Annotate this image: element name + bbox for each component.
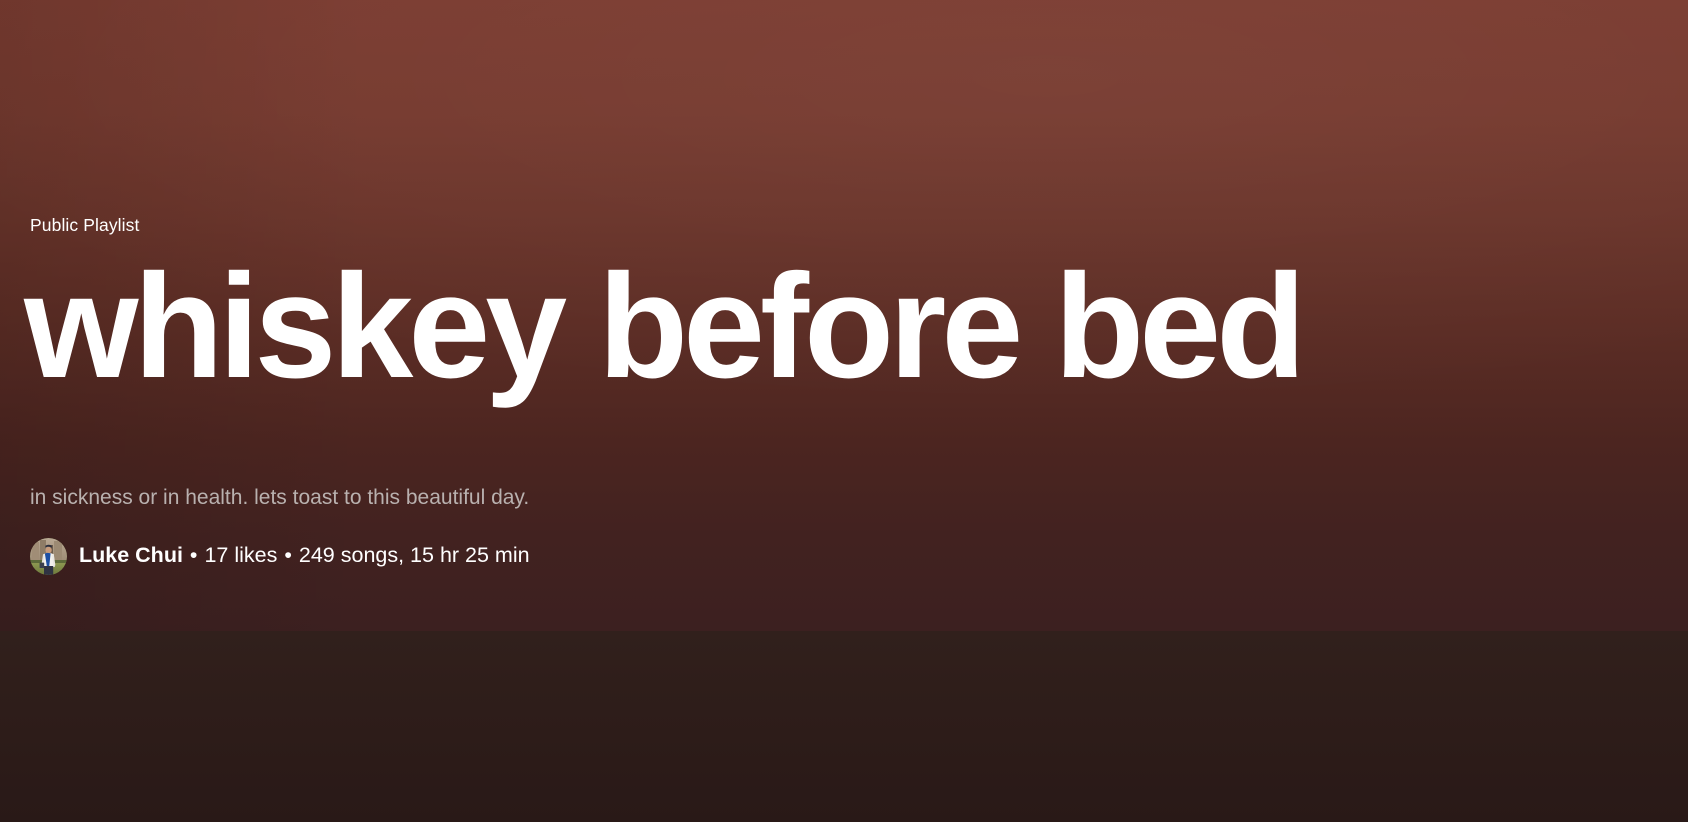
playlist-header-content: Public Playlist whiskey before bed in si… [30,0,1670,631]
playlist-song-count-duration: 249 songs, 15 hr 25 min [299,545,530,567]
meta-separator-bullet-2: • [277,545,299,567]
owner-avatar[interactable] [30,538,67,575]
meta-separator-bullet-1: • [183,545,205,567]
playlist-action-bar [0,631,1688,822]
playlist-meta-text: Luke Chui • 17 likes • 249 songs, 15 hr … [79,545,530,567]
playlist-owner-link[interactable]: Luke Chui [79,545,183,567]
playlist-header-hero: Public Playlist whiskey before bed in si… [0,0,1688,631]
playlist-title[interactable]: whiskey before bed [24,252,1686,403]
playlist-meta-row: Luke Chui • 17 likes • 249 songs, 15 hr … [30,539,530,573]
playlist-page: Public Playlist whiskey before bed in si… [0,0,1688,822]
playlist-description: in sickness or in health. lets toast to … [30,485,529,510]
playlist-type-label: Public Playlist [30,217,139,235]
playlist-likes-count: 17 likes [204,545,277,567]
